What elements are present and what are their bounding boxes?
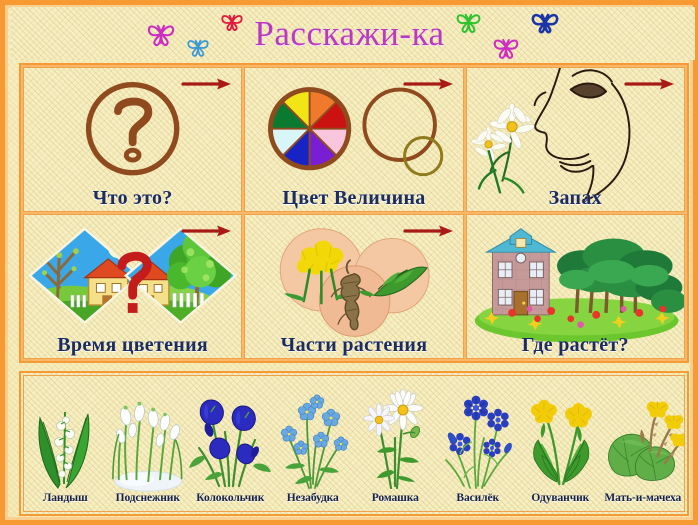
flower-name: Мать-и-мачеха <box>604 492 681 511</box>
arrow-right-icon <box>181 223 233 244</box>
flower-item[interactable]: Колокольчик <box>189 376 272 511</box>
bluebell-icon <box>189 386 271 492</box>
topic-label: Части растения <box>245 335 462 358</box>
page-title: Расскажи-ка <box>254 14 444 54</box>
flower-item[interactable]: Мать-и-мачеха <box>602 376 685 511</box>
arrow-right-icon <box>403 223 455 244</box>
dandelion-icon <box>519 386 602 492</box>
flower-item[interactable]: Ромашка <box>354 376 437 511</box>
arrow-right-icon <box>181 76 233 97</box>
tree-cluster <box>557 238 684 312</box>
cornflower-blooms <box>449 396 508 458</box>
butterfly-green-icon <box>455 7 482 34</box>
butterfly-magenta-icon <box>146 21 176 47</box>
arrow-right-icon <box>624 76 676 97</box>
butterfly-magenta-icon <box>492 35 520 60</box>
daisy-icon <box>357 388 433 492</box>
flower-item[interactable]: Незабудка <box>272 376 355 511</box>
flower-name: Колокольчик <box>196 492 264 511</box>
flower-name: Василёк <box>456 492 499 511</box>
butterfly-navy-icon <box>530 7 560 35</box>
topic-grid: Что это? <box>19 63 689 363</box>
arrow-right-icon <box>403 76 455 97</box>
butterfly-blue-icon <box>186 36 210 60</box>
flower-name: Подснежник <box>116 492 180 511</box>
poster-header: Расскажи-ка <box>11 7 695 60</box>
forget-me-not-icon <box>273 388 353 492</box>
topic-label: Время цветения <box>24 335 241 358</box>
flower-strip: Ландыш <box>19 371 689 516</box>
topic-label: Цвет Величина <box>245 188 462 211</box>
flower-name: Ромашка <box>372 492 419 511</box>
flower-item[interactable]: Подснежник <box>107 376 190 511</box>
topic-label: Запах <box>467 188 684 211</box>
house <box>486 229 555 315</box>
flower-name: Незабудка <box>287 492 339 511</box>
topic-cell-color-size[interactable]: Цвет Величина <box>244 67 463 212</box>
flower-item[interactable]: Ландыш <box>24 376 107 511</box>
topic-label: Что это? <box>24 188 241 211</box>
butterfly-crimson-icon <box>220 7 244 33</box>
topic-cell-where-grows[interactable]: Где растёт? <box>466 214 685 359</box>
flower-item[interactable]: Василёк <box>437 376 520 511</box>
cornflower-icon <box>438 386 518 492</box>
daisy-cluster <box>471 103 535 193</box>
flower-item[interactable]: Одуванчик <box>519 376 602 511</box>
topic-cell-what-is-it[interactable]: Что это? <box>23 67 242 212</box>
flower-name: Одуванчик <box>531 492 589 511</box>
snowdrop-icon <box>107 388 190 492</box>
topic-cell-smell[interactable]: Запах <box>466 67 685 212</box>
poster-root: Расскажи-ка <box>0 0 698 525</box>
coltsfoot-icon <box>602 388 685 492</box>
topic-label: Где растёт? <box>467 335 684 358</box>
topic-cell-bloom-time[interactable]: Время цветения <box>23 214 242 359</box>
topic-cell-plant-parts[interactable]: Части растения <box>244 214 463 359</box>
flower-name: Ландыш <box>43 492 88 511</box>
lily-of-the-valley-icon <box>28 388 102 492</box>
forget-me-not-blooms <box>281 395 348 455</box>
